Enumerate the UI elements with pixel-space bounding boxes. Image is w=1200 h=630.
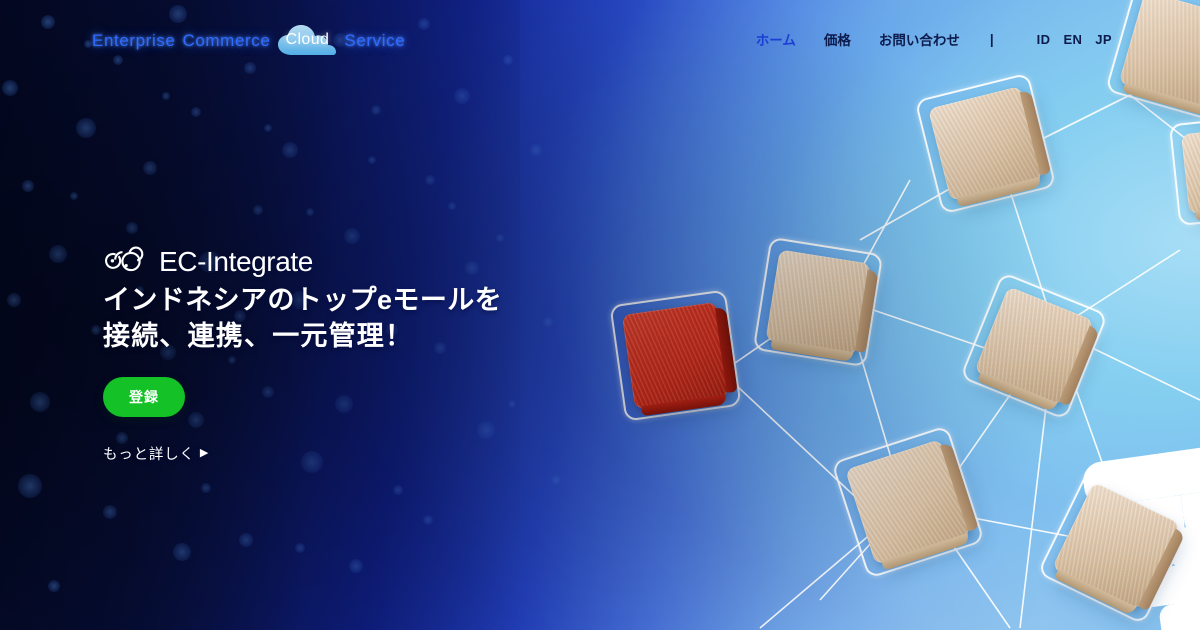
product-brand: EC-Integrate	[103, 246, 573, 278]
hero-copy: EC-Integrate インドネシアのトップeモールを 接続、連携、一元管理！…	[103, 246, 573, 464]
logo-word-service: Service	[344, 31, 405, 51]
main-navigation: ホーム 価格 お問い合わせ | ID EN JP	[756, 29, 1112, 49]
nav-separator: |	[988, 32, 1024, 47]
node-red-highlight	[622, 302, 729, 409]
product-name: EC-Integrate	[159, 246, 313, 278]
node-wood-1	[765, 249, 870, 354]
headline-line-2: 接続、連携、一元管理！	[103, 319, 573, 355]
logo-word-commerce: Commerce	[182, 31, 270, 51]
cloud-icon: Cloud	[277, 24, 337, 57]
lang-switch-id[interactable]: ID	[1024, 32, 1051, 47]
arrow-right-icon: ▶	[200, 448, 209, 459]
logo-word-cloud: Cloud	[286, 31, 330, 50]
lang-switch-jp[interactable]: JP	[1082, 32, 1112, 47]
nav-item-pricing[interactable]: 価格	[824, 29, 879, 49]
double-cloud-logo-svg	[103, 246, 159, 278]
logo-word-enterprise: Enterprise	[92, 31, 175, 51]
page-title: インドネシアのトップeモールを 接続、連携、一元管理！	[103, 283, 573, 355]
site-header: Enterprise Commerce Cloud Service ホーム	[0, 0, 1200, 76]
learn-more-link[interactable]: もっと詳しく ▶	[103, 443, 209, 464]
hero-banner: Enterprise Commerce Cloud Service ホーム	[0, 0, 1200, 630]
headline-line-1: インドネシアのトップeモールを	[103, 283, 573, 319]
learn-more-label: もっと詳しく	[103, 443, 195, 464]
nav-item-home[interactable]: ホーム	[756, 29, 824, 49]
lang-switch-en[interactable]: EN	[1050, 32, 1082, 47]
site-logo[interactable]: Enterprise Commerce Cloud Service	[92, 24, 405, 57]
double-cloud-logo-icon	[103, 246, 159, 278]
nav-item-contact[interactable]: お問い合わせ	[879, 29, 988, 49]
register-button[interactable]: 登録	[103, 377, 185, 417]
